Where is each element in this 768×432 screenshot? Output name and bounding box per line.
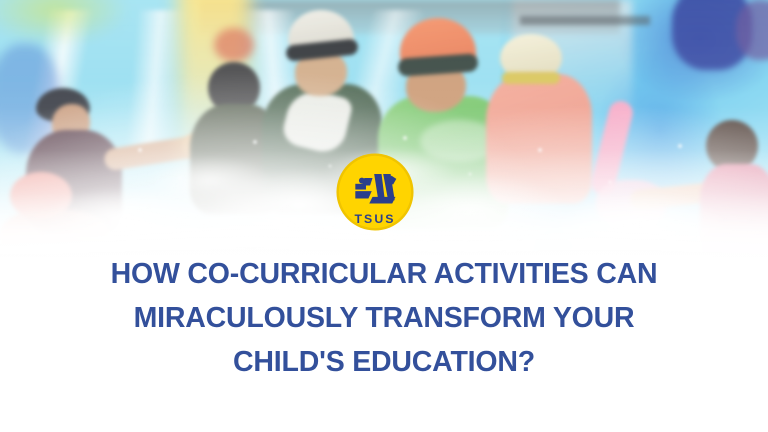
headline-line-1: HOW CO-CURRICULAR ACTIVITIES CAN	[0, 252, 768, 296]
headline-line-2: MIRACULOUSLY TRANSFORM YOUR	[0, 296, 768, 340]
headline-line-3: CHILD'S EDUCATION?	[0, 340, 768, 384]
page-title: HOW CO-CURRICULAR ACTIVITIES CAN MIRACUL…	[0, 252, 768, 384]
article-banner: TSUS HOW CO-CURRICULAR ACTIVITIES CAN MI…	[0, 0, 768, 432]
logo-wordmark: TSUS	[355, 212, 396, 226]
svg-text:TSUS: TSUS	[355, 212, 396, 226]
tsus-logo: TSUS	[334, 151, 416, 233]
